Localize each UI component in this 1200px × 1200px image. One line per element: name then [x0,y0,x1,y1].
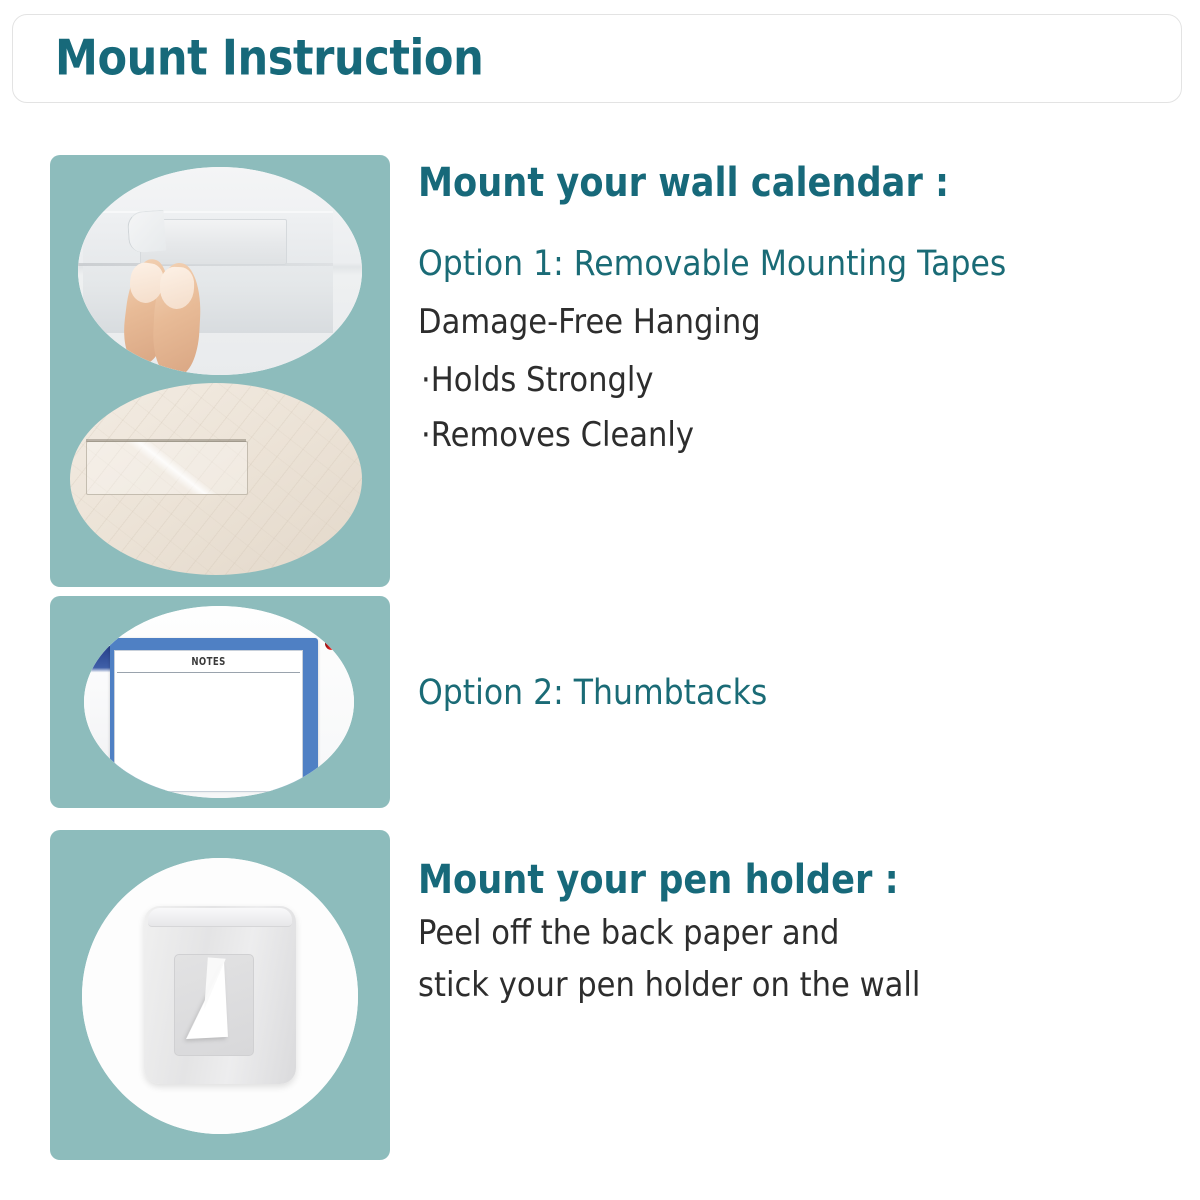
notes-label: NOTES [136,655,282,668]
damage-free-subtitle: Damage-Free Hanging [418,302,761,342]
pen-holder-line-2: stick your pen holder on the wall [418,965,920,1005]
notes-rule-line [117,672,300,673]
image-panel-pen-holder [50,830,390,1160]
transparent-tape-strip [86,441,248,495]
instruction-content: NOTES Mount your wall calendar [0,0,1200,1200]
tape-on-wall-photo [70,383,362,575]
pen-holder-cup [144,906,296,1084]
section-heading-pen-holder: Mount your pen holder : [418,857,899,903]
notes-board-surface: NOTES [114,650,303,792]
bullet-removes-cleanly: ·Removes Cleanly [421,415,694,455]
tape-lifted-corner [127,210,167,253]
notes-board: NOTES [110,638,318,790]
bullet-holds-strongly: ·Holds Strongly [421,360,654,400]
peel-backing-paper-fold [204,957,226,1010]
tape-strip-edge [86,439,246,442]
pen-holder-line-1: Peel off the back paper and [418,913,839,953]
thumbtack-highlight [324,612,333,618]
pen-holder-photo [82,858,358,1134]
option-2-label: Option 2: Thumbtacks [418,673,767,713]
notes-board-photo: NOTES [84,606,354,798]
thumbtack-icon [316,608,346,656]
hand-peeling-tape-photo [78,167,362,375]
pen-holder-rim [148,908,292,927]
image-panel-thumbtacks: NOTES [50,596,390,808]
image-panel-mounting-tapes [50,155,390,587]
section-heading-wall-calendar: Mount your wall calendar : [418,160,949,206]
option-1-label: Option 1: Removable Mounting Tapes [418,244,1006,284]
thumbtack-head [317,608,345,630]
